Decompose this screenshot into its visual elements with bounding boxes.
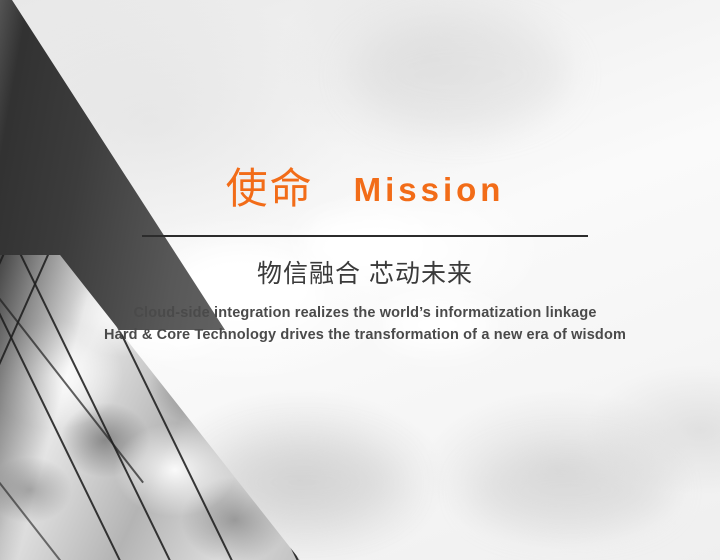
page-title-en: Mission [354, 173, 505, 206]
mission-banner: 使命 Mission 物信融合 芯动未来 Cloud-side integrat… [0, 0, 720, 560]
mission-body-line: Cloud-side integration realizes the worl… [60, 302, 670, 324]
mission-title: 使命 Mission [142, 168, 588, 210]
mission-body: Cloud-side integration realizes the worl… [60, 302, 670, 346]
mission-subtitle-cn: 物信融合 芯动未来 [142, 258, 588, 291]
mission-content: 使命 Mission 物信融合 芯动未来 Cloud-side integrat… [0, 0, 720, 560]
mission-body-line: Hard & Core Technology drives the transf… [60, 324, 670, 346]
page-title-cn: 使命 [226, 168, 314, 210]
title-divider [142, 235, 588, 237]
